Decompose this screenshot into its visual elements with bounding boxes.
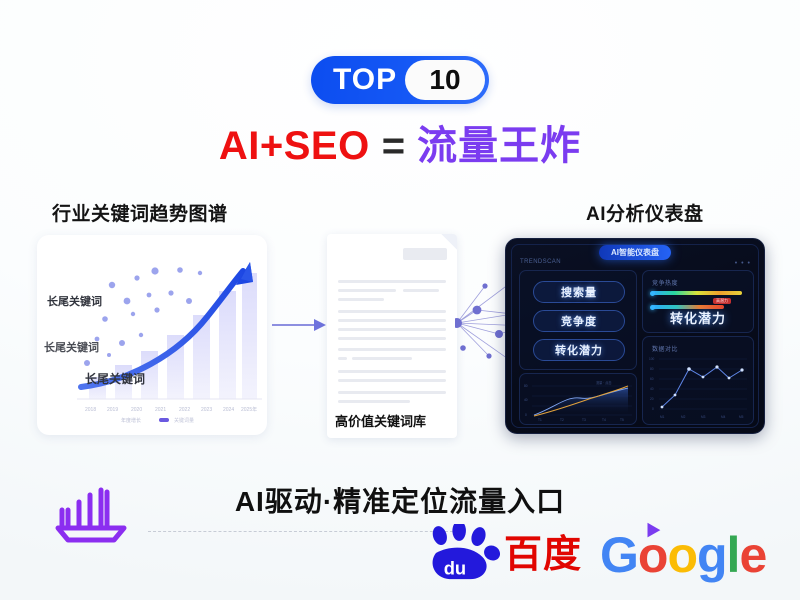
svg-text:年度增长: 年度增长 <box>121 417 141 424</box>
svg-text:T3: T3 <box>582 418 586 422</box>
google-letter-o2: o <box>667 527 697 583</box>
competition-gauge-panel: 竞争热度 高潜力 转化潜力 <box>642 270 754 333</box>
metric-button-search-volume[interactable]: 搜索量 <box>533 281 625 303</box>
baidu-paw-icon: du <box>420 524 508 582</box>
headline-equals: = <box>382 124 405 168</box>
gauge-overlay-label: 转化潜力 <box>643 308 753 327</box>
area-chart-svg: T1T2T3 T4T5 80400 流量 · 点击 <box>520 374 636 424</box>
dashboard-menu-icon[interactable]: • • • <box>735 260 751 267</box>
keyword-library-document: 高价值关键词库 <box>327 234 457 438</box>
keyword-label-1: 长尾关键词 <box>47 293 102 309</box>
svg-text:T1: T1 <box>538 418 542 422</box>
document-text-line <box>338 348 446 351</box>
svg-text:2025年: 2025年 <box>241 406 257 413</box>
svg-text:60: 60 <box>650 377 654 381</box>
document-text-line <box>338 280 446 283</box>
document-text-line <box>338 337 446 340</box>
top-rank-badge: TOP 10 <box>311 56 489 104</box>
document-text-line <box>338 310 446 313</box>
play-triangle-icon <box>642 520 664 542</box>
document-text-line <box>338 328 446 331</box>
flow-arrow-icon <box>272 318 326 332</box>
bar-chart-icon <box>48 482 134 548</box>
svg-text:20: 20 <box>650 397 654 401</box>
gauge-tag: 高潜力 <box>713 298 731 304</box>
google-wordmark: Google <box>600 530 766 580</box>
ai-dashboard-card: AI智能仪表盘 TRENDSCAN • • • 搜索量 竞争度 转化潜力 <box>505 238 765 434</box>
brand-logos: du 百度 Google <box>420 520 760 586</box>
svg-text:M3: M3 <box>701 415 706 419</box>
comparison-line-panel: 数据对比 1008060 40200 M1M2M3 <box>642 336 754 425</box>
svg-text:0: 0 <box>652 407 654 411</box>
svg-text:T5: T5 <box>620 418 624 422</box>
left-section-caption: 行业关键词趋势图谱 <box>52 199 228 226</box>
document-text-line <box>352 357 412 360</box>
svg-text:0: 0 <box>525 413 527 417</box>
keyword-trend-card: 20182019 20202021 20222023 20242025年 年度增… <box>37 235 267 435</box>
svg-text:M4: M4 <box>721 415 726 419</box>
dashboard-brand: TRENDSCAN <box>520 259 561 265</box>
svg-text:M1: M1 <box>660 415 665 419</box>
svg-text:流量 · 点击: 流量 · 点击 <box>596 380 612 385</box>
document-header-block <box>403 248 447 260</box>
top-badge-word: TOP <box>333 65 397 95</box>
document-text-line <box>338 379 446 382</box>
google-letter-g1: G <box>600 527 638 583</box>
svg-text:2024: 2024 <box>223 407 234 413</box>
right-section-caption: AI分析仪表盘 <box>586 199 704 226</box>
svg-text:2018: 2018 <box>85 407 96 413</box>
metric-button-competition[interactable]: 竞争度 <box>533 310 625 332</box>
svg-text:80: 80 <box>650 367 654 371</box>
google-letter-l: l <box>727 527 740 583</box>
metric-button-conversion[interactable]: 转化潜力 <box>533 339 625 361</box>
gauge-bar-primary <box>652 291 742 295</box>
document-text-line <box>338 370 446 373</box>
baidu-du-mark: du <box>444 557 466 578</box>
svg-text:T2: T2 <box>560 418 564 422</box>
gauge-panel-title: 竞争热度 <box>652 278 678 287</box>
document-text-line <box>338 319 446 322</box>
svg-text:2021: 2021 <box>155 407 166 413</box>
svg-text:80: 80 <box>524 384 528 388</box>
dashboard-title-badge: AI智能仪表盘 <box>599 245 671 260</box>
svg-text:2019: 2019 <box>107 407 118 413</box>
svg-text:2023: 2023 <box>201 407 212 413</box>
headline-ai-seo: AI+SEO <box>219 124 370 168</box>
svg-text:100: 100 <box>649 357 655 361</box>
line-chart-svg: 1008060 40200 M1M2M3 M4M5 <box>643 337 753 424</box>
document-bullet <box>338 357 347 360</box>
document-text-line <box>338 289 396 292</box>
keyword-label-3: 长尾关键词 <box>85 370 145 387</box>
svg-text:T4: T4 <box>602 418 606 422</box>
svg-text:M2: M2 <box>681 415 686 419</box>
svg-text:40: 40 <box>524 398 528 402</box>
trend-chart-svg: 20182019 20202021 20222023 20242025年 年度增… <box>37 235 267 435</box>
google-letter-e: e <box>739 527 766 583</box>
metric-buttons-panel: 搜索量 竞争度 转化潜力 <box>519 270 637 370</box>
baidu-wordmark: 百度 <box>504 536 582 574</box>
document-text-line <box>338 298 384 301</box>
svg-text:40: 40 <box>650 387 654 391</box>
google-letter-g2: g <box>697 527 727 583</box>
area-chart-panel: T1T2T3 T4T5 80400 流量 · 点击 <box>519 373 637 425</box>
keyword-label-2: 长尾关键词 <box>44 339 99 355</box>
top-badge-number: 10 <box>405 60 485 100</box>
svg-text:M5: M5 <box>739 415 744 419</box>
document-text-line <box>338 391 446 394</box>
document-text-line <box>403 289 439 292</box>
svg-text:2022: 2022 <box>179 407 190 413</box>
footer-divider <box>148 531 458 532</box>
document-caption: 高价值关键词库 <box>335 411 426 430</box>
gauge-marker <box>650 291 655 296</box>
svg-text:2020: 2020 <box>131 407 142 413</box>
document-text-line <box>338 400 410 403</box>
headline-result: 流量王炸 <box>417 124 581 168</box>
page-title: AI+SEO=流量王炸 <box>0 126 800 166</box>
svg-text:关键词量: 关键词量 <box>174 417 194 424</box>
slide-canvas: TOP 10 AI+SEO=流量王炸 行业关键词趋势图谱 AI分析仪表盘 <box>0 0 800 600</box>
